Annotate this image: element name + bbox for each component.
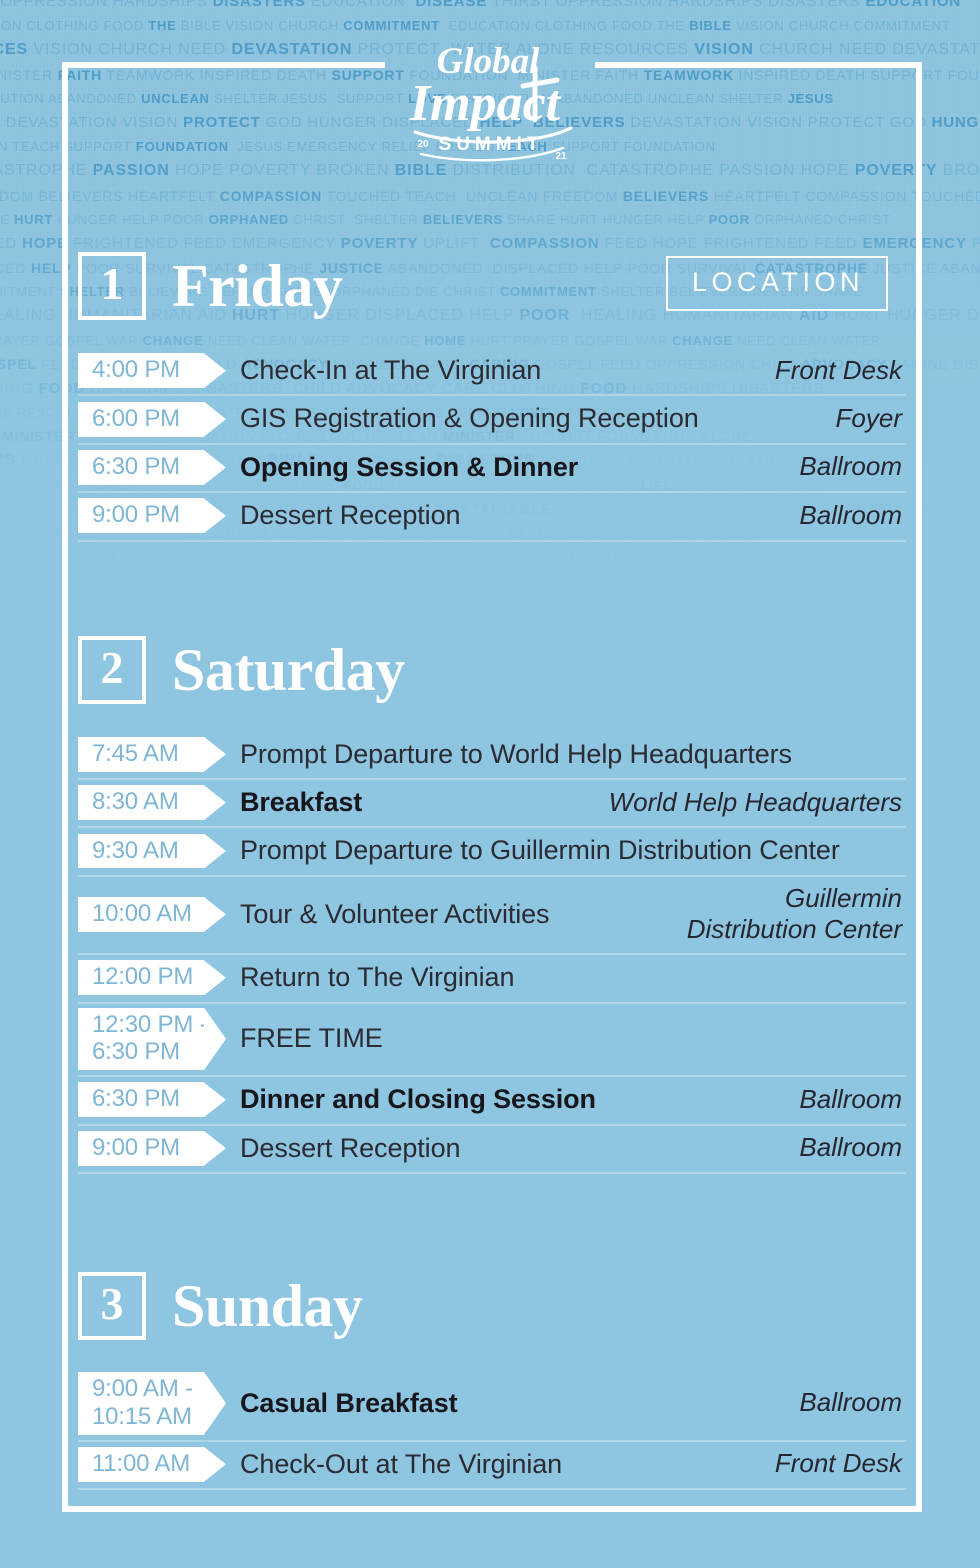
schedule-row: 6:00 PMGIS Registration & Opening Recept… xyxy=(78,396,906,444)
schedule-row: 7:45 AMPrompt Departure to World Help He… xyxy=(78,730,906,780)
day-name: Sunday xyxy=(172,1276,362,1336)
time-text: 6:30 PM xyxy=(92,453,180,481)
schedule-rows: 7:45 AMPrompt Departure to World Help He… xyxy=(78,730,906,1174)
time-text: 7:45 AM xyxy=(92,740,179,768)
event-title: Return to The Virginian xyxy=(226,955,906,1001)
time-tag: 12:00 PM xyxy=(78,960,204,995)
day-name: Friday xyxy=(172,256,342,316)
event-title: Tour & Volunteer Activities xyxy=(226,877,677,953)
time-tag: 9:30 AM xyxy=(78,834,204,869)
event-title: Dessert Reception xyxy=(226,1126,789,1172)
time-tag: 10:00 AM xyxy=(78,897,204,932)
time-text: 12:00 PM xyxy=(92,963,193,991)
time-cell: 10:00 AM xyxy=(78,877,226,953)
time-tag: 4:00 PM xyxy=(78,353,204,388)
event-title: Dessert Reception xyxy=(226,493,789,539)
wordcloud-line: COMPASSION FEED HOPE FRIGHTENED FEED EME… xyxy=(0,236,980,251)
event-title: Check-Out at The Virginian xyxy=(226,1442,765,1488)
frame-left-edge xyxy=(62,62,68,1512)
time-text: 9:00 PM xyxy=(92,1134,180,1162)
time-cell: 8:30 AM xyxy=(78,780,226,826)
time-cell: 6:30 PM xyxy=(78,445,226,491)
location-column-header-box: LOCATION xyxy=(666,256,888,311)
wordcloud-line: JESUS EMERGENCY RELIEF BROKEN TEACH SUPP… xyxy=(0,140,716,153)
time-tag: 11:00 AM xyxy=(78,1447,204,1482)
time-cell: 11:00 AM xyxy=(78,1442,226,1488)
time-cell: 9:00 PM xyxy=(78,1126,226,1172)
event-location: Foyer xyxy=(826,396,906,442)
time-text: 6:30 PM xyxy=(92,1038,180,1066)
global-impact-summit-logo: Global Impact 20 SUMMIT 21 xyxy=(385,28,595,168)
schedule-row: 6:30 PMDinner and Closing SessionBallroo… xyxy=(78,1077,906,1125)
time-text: 6:30 PM xyxy=(92,1085,180,1113)
schedule-row: 12:00 PMReturn to The Virginian xyxy=(78,955,906,1003)
time-cell: 12:30 PM -6:30 PM xyxy=(78,1004,226,1076)
day-number: 1 xyxy=(101,261,124,307)
schedule-row: 10:00 AMTour & Volunteer ActivitiesGuill… xyxy=(78,877,906,955)
wordcloud-line: UNCLEAN FREEDOM BELIEVERS HEARTFELT COMP… xyxy=(0,189,980,203)
schedule-rows: 4:00 PMCheck-In at The VirginianFront De… xyxy=(78,346,906,542)
schedule-row: 4:00 PMCheck-In at The VirginianFront De… xyxy=(78,346,906,396)
time-text: 11:00 AM xyxy=(92,1450,190,1478)
agenda-content: 1FridayLOCATION4:00 PMCheck-In at The Vi… xyxy=(78,250,906,1490)
event-location: Ballroom xyxy=(789,493,906,539)
event-location: Front Desk xyxy=(765,1442,906,1488)
frame-top-left-segment xyxy=(62,62,385,68)
time-tag: 8:30 AM xyxy=(78,785,204,820)
event-title: Breakfast xyxy=(226,780,599,826)
time-tag: 6:00 PM xyxy=(78,402,204,437)
event-location: Guillermin Distribution Center xyxy=(677,877,906,953)
time-tag: 6:30 PM xyxy=(78,450,204,485)
time-tag: 12:30 PM -6:30 PM xyxy=(78,1008,204,1071)
day-number-box: 3 xyxy=(78,1272,146,1340)
schedule-row: 9:00 AM -10:15 AMCasual BreakfastBallroo… xyxy=(78,1366,906,1442)
day-number: 3 xyxy=(101,1281,124,1327)
time-cell: 9:00 PM xyxy=(78,493,226,539)
event-title: Prompt Departure to Guillermin Distribut… xyxy=(226,828,906,874)
day-header: 3Sunday xyxy=(78,1270,906,1342)
day-number: 2 xyxy=(101,645,124,691)
time-cell: 4:00 PM xyxy=(78,348,226,394)
schedule-rows: 9:00 AM -10:15 AMCasual BreakfastBallroo… xyxy=(78,1366,906,1490)
time-text: 6:00 PM xyxy=(92,405,180,433)
event-location: Ballroom xyxy=(789,445,906,491)
time-cell: 7:45 AM xyxy=(78,732,226,778)
day-header: 1FridayLOCATION xyxy=(78,250,906,322)
time-text: 10:15 AM xyxy=(92,1403,192,1431)
event-title: Check-In at The Virginian xyxy=(226,348,765,394)
wordcloud-line: SHELTER BELIEVERS SHARE HURT HUNGER HELP… xyxy=(0,213,891,226)
event-title: Casual Breakfast xyxy=(226,1368,789,1440)
svg-text:SUMMIT: SUMMIT xyxy=(439,134,544,155)
svg-text:21: 21 xyxy=(555,151,567,162)
schedule-row: 9:00 PMDessert ReceptionBallroom xyxy=(78,1126,906,1174)
time-text: 8:30 AM xyxy=(92,788,179,816)
schedule-row: 8:30 AMBreakfastWorld Help Headquarters xyxy=(78,780,906,828)
time-tag: 9:00 PM xyxy=(78,1131,204,1166)
event-title: FREE TIME xyxy=(226,1004,906,1076)
event-location: World Help Headquarters xyxy=(599,780,906,826)
time-text: 9:30 AM xyxy=(92,837,179,865)
event-location: Ballroom xyxy=(789,1077,906,1123)
day-header: 2Saturday xyxy=(78,634,906,706)
event-title: Prompt Departure to World Help Headquart… xyxy=(226,732,906,778)
event-location: Front Desk xyxy=(765,348,906,394)
frame-top-right-segment xyxy=(595,62,922,68)
event-location: Ballroom xyxy=(789,1368,906,1440)
time-tag: 9:00 AM -10:15 AM xyxy=(78,1372,204,1435)
schedule-row: 11:00 AMCheck-Out at The VirginianFront … xyxy=(78,1442,906,1490)
event-title: Opening Session & Dinner xyxy=(226,445,789,491)
schedule-row: 9:00 PMDessert ReceptionBallroom xyxy=(78,493,906,541)
time-text: 12:30 PM - xyxy=(92,1011,207,1039)
time-cell: 6:30 PM xyxy=(78,1077,226,1123)
time-text: 10:00 AM xyxy=(92,900,192,928)
schedule-row: 12:30 PM -6:30 PMFREE TIME xyxy=(78,1004,906,1078)
day-block-saturday: 2Saturday7:45 AMPrompt Departure to Worl… xyxy=(78,634,906,1174)
event-location: Ballroom xyxy=(789,1126,906,1172)
time-cell: 12:00 PM xyxy=(78,955,226,1001)
time-text: 9:00 AM - xyxy=(92,1375,193,1403)
time-tag: 6:30 PM xyxy=(78,1082,204,1117)
wordcloud-line: DISEASE THIRST OPPRESSION HARDSHIPS DISA… xyxy=(0,0,961,9)
time-tag: 7:45 AM xyxy=(78,737,204,772)
location-column-header-label: LOCATION xyxy=(692,267,864,297)
time-text: 9:00 PM xyxy=(92,501,180,529)
frame-right-edge xyxy=(916,62,922,1512)
time-text: 4:00 PM xyxy=(92,356,180,384)
event-title: GIS Registration & Opening Reception xyxy=(226,396,826,442)
time-tag: 9:00 PM xyxy=(78,498,204,533)
day-block-friday: 1FridayLOCATION4:00 PMCheck-In at The Vi… xyxy=(78,250,906,542)
day-number-box: 1 xyxy=(78,252,146,320)
day-block-sunday: 3Sunday9:00 AM -10:15 AMCasual Breakfast… xyxy=(78,1270,906,1490)
svg-text:20: 20 xyxy=(417,139,429,150)
schedule-row: 6:30 PMOpening Session & DinnerBallroom xyxy=(78,445,906,493)
day-name: Saturday xyxy=(172,640,405,700)
day-number-box: 2 xyxy=(78,636,146,704)
time-cell: 9:30 AM xyxy=(78,828,226,874)
time-cell: 9:00 AM -10:15 AM xyxy=(78,1368,226,1440)
frame-bottom-edge xyxy=(62,1506,922,1512)
schedule-row: 9:30 AMPrompt Departure to Guillermin Di… xyxy=(78,828,906,876)
time-cell: 6:00 PM xyxy=(78,396,226,442)
event-title: Dinner and Closing Session xyxy=(226,1077,789,1123)
